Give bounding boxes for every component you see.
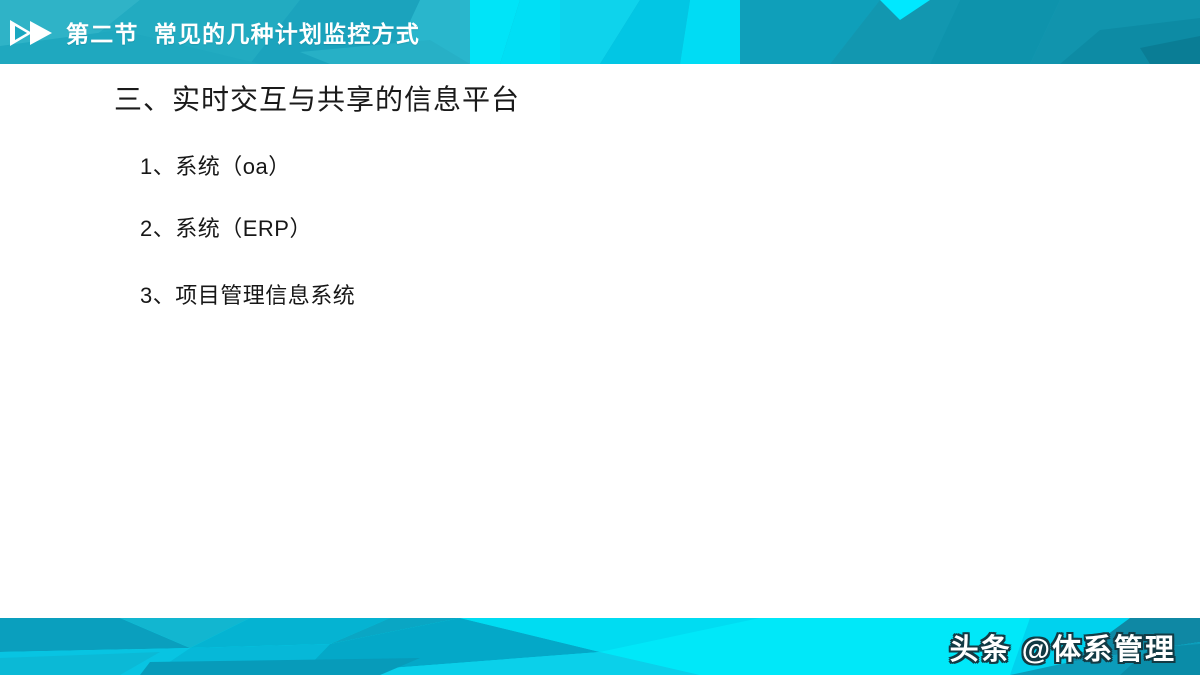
header-title: 第二节 常见的几种计划监控方式 <box>66 0 420 64</box>
slide-footer: 头条 @体系管理 <box>0 618 1200 675</box>
slide-header: 第二节 常见的几种计划监控方式 <box>0 0 1200 64</box>
play-triangle-icon <box>10 19 54 47</box>
list-item: 1、系统（oa） <box>140 149 291 181</box>
slide-content: 三、实时交互与共享的信息平台 1、系统（oa） 2、系统（ERP） 3、项目管理… <box>0 64 1200 618</box>
list-item: 2、系统（ERP） <box>140 211 312 243</box>
list-item: 3、项目管理信息系统 <box>140 278 355 310</box>
presentation-slide: 第二节 常见的几种计划监控方式 三、实时交互与共享的信息平台 1、系统（oa） … <box>0 0 1200 675</box>
section-heading: 三、实时交互与共享的信息平台 <box>114 78 520 118</box>
watermark-text: 头条 @体系管理 <box>950 618 1176 675</box>
